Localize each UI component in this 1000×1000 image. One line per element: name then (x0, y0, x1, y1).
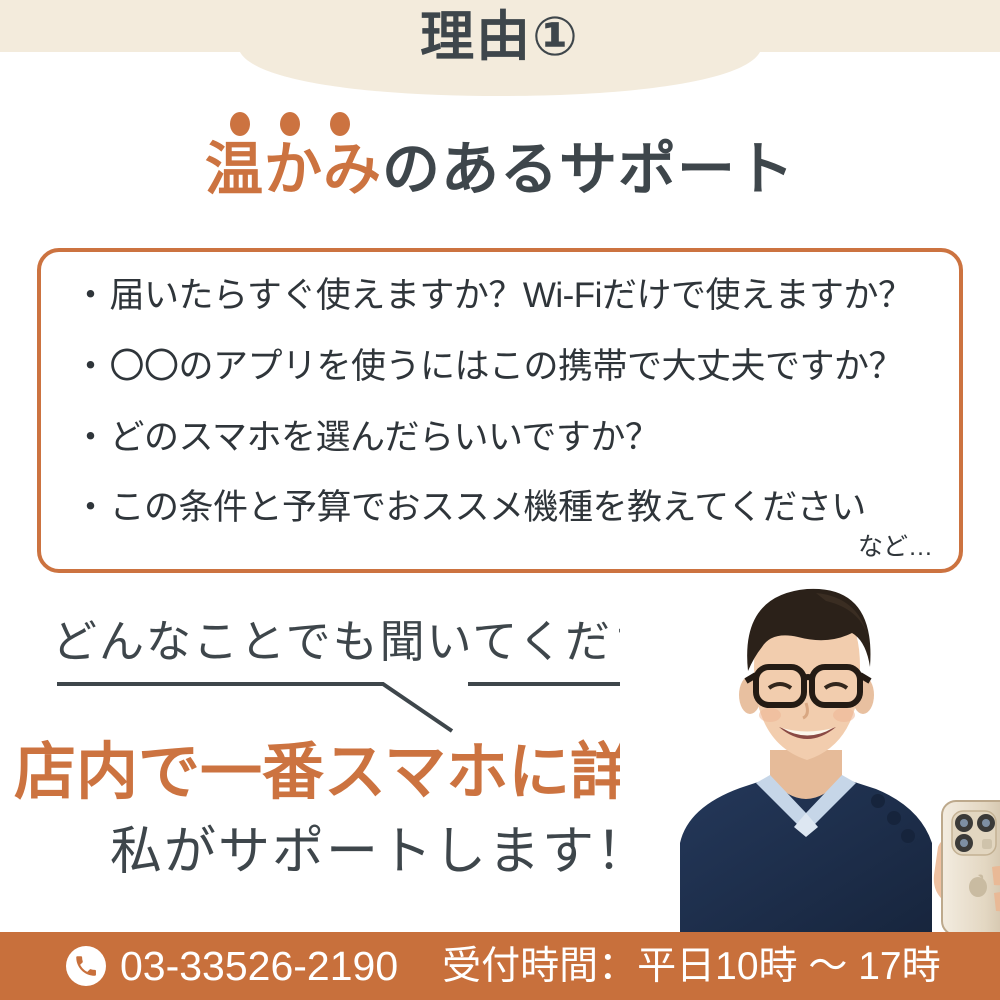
business-hours: 受付時間：平日10時 〜 17時 (442, 947, 940, 986)
page-title: 理由① (0, 10, 1000, 64)
emphasis-dots (222, 112, 382, 140)
list-item-label: この条件と予算でおススメ機種を教えてください (110, 488, 866, 527)
speech-bubble-rule (40, 665, 680, 735)
bullet-marker: ・ (73, 347, 108, 386)
list-item-label: 届いたらすぐ使えますか？Wi-Fiだけで使えますか？ (110, 276, 913, 315)
emphasis-dot (280, 112, 300, 136)
list-item-label: 〇〇のアプリを使うにはこの携帯で大丈夫ですか？ (110, 347, 904, 386)
question-list: ・届いたらすぐ使えますか？Wi-Fiだけで使えますか？ ・〇〇のアプリを使うには… (41, 278, 959, 527)
sub-headline-rest: のあるサポート (382, 137, 795, 202)
phone-number[interactable]: 03-33526-2190 (120, 946, 398, 987)
footer-bar: 03-33526-2190 受付時間：平日10時 〜 17時 (0, 932, 1000, 1000)
bullet-marker: ・ (73, 276, 108, 315)
poster-canvas: 理由① 温かみのあるサポート ・届いたらすぐ使えますか？Wi-Fiだけで使えます… (0, 0, 1000, 1000)
bullet-marker: ・ (73, 418, 108, 457)
emphasis-dot (330, 112, 350, 136)
question-box: ・届いたらすぐ使えますか？Wi-Fiだけで使えますか？ ・〇〇のアプリを使うには… (37, 248, 963, 573)
staff-photo (620, 575, 1000, 935)
list-item: ・〇〇のアプリを使うにはこの携帯で大丈夫ですか？ (73, 349, 933, 386)
list-item: ・届いたらすぐ使えますか？Wi-Fiだけで使えますか？ (73, 278, 933, 315)
list-item: ・どのスマホを選んだらいいですか？ (73, 420, 933, 457)
support-line: 私がサポートします！ (110, 826, 650, 878)
sub-headline: 温かみのあるサポート (0, 138, 1000, 202)
list-item: ・この条件と予算でおススメ機種を教えてください (73, 490, 933, 527)
phone-icon (66, 946, 106, 986)
emphasis-dot (230, 112, 250, 136)
bullet-marker: ・ (73, 488, 108, 527)
list-item-label: どのスマホを選んだらいいですか？ (110, 418, 660, 457)
etc-note: など… (858, 527, 933, 563)
sub-headline-highlight: 温かみ (205, 137, 382, 202)
